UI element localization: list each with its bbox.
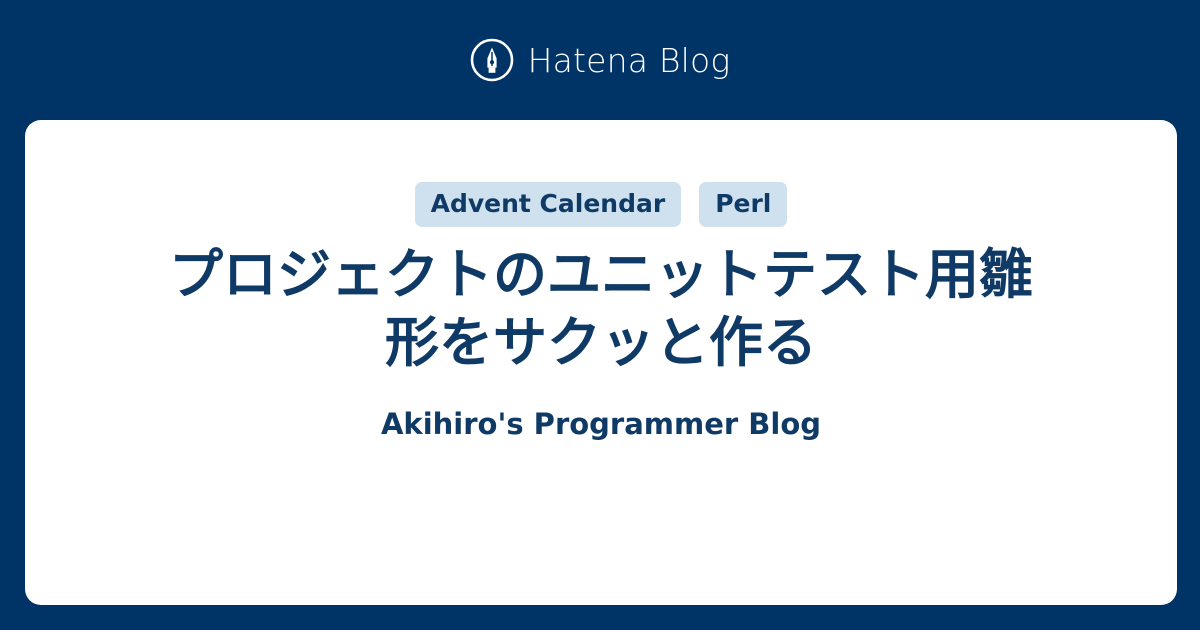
brand-name: Hatena Blog [528,44,731,77]
site-header: Hatena Blog [0,0,1200,120]
entry-title: プロジェクトのユニットテスト用雛形をサクッと作る [161,241,1041,377]
tag-list: Advent Calendar Perl [415,182,788,227]
entry-card: Advent Calendar Perl プロジェクトのユニットテスト用雛形をサ… [25,120,1177,605]
tag-perl[interactable]: Perl [699,182,787,227]
blog-name: Akihiro's Programmer Blog [381,407,821,442]
tag-advent-calendar[interactable]: Advent Calendar [415,182,682,227]
og-image-root: Hatena Blog Advent Calendar Perl プロジェクトの… [0,0,1200,630]
hatena-pen-nib-icon [470,38,514,82]
